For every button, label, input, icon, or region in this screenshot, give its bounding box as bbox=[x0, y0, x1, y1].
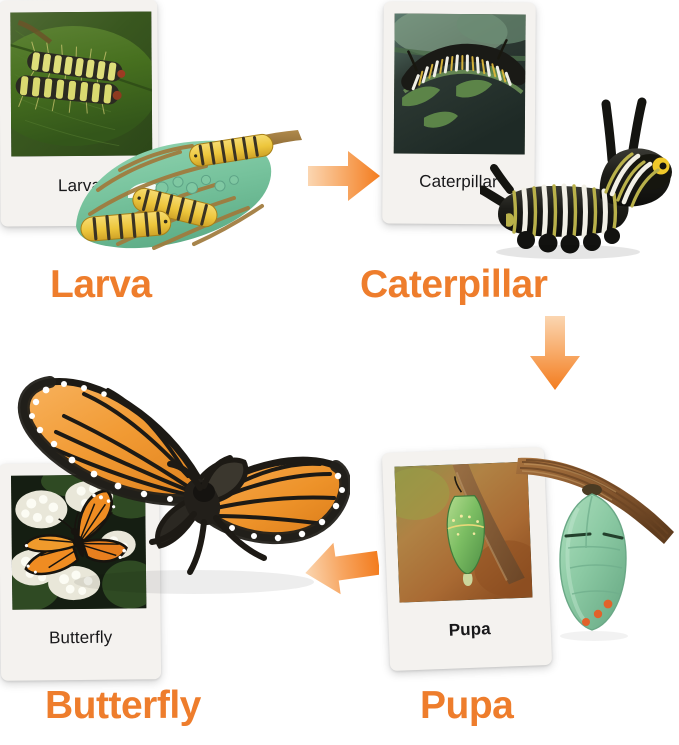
card-butterfly[interactable]: Butterfly bbox=[0, 462, 161, 681]
stage-label-pupa: Pupa bbox=[420, 684, 513, 728]
stage-label-butterfly: Butterfly bbox=[45, 684, 201, 728]
card-pupa[interactable]: Pupa bbox=[382, 447, 552, 671]
card-caterpillar-photo bbox=[394, 14, 526, 155]
arrow-pupa-to-butterfly bbox=[303, 540, 379, 596]
card-larva-photo bbox=[10, 11, 152, 156]
stage-label-larva: Larva bbox=[50, 263, 152, 307]
card-butterfly-caption: Butterfly bbox=[1, 627, 161, 649]
infographic-canvas: Larva bbox=[0, 0, 679, 745]
card-caterpillar[interactable]: Caterpillar bbox=[382, 1, 536, 224]
card-caterpillar-caption: Caterpillar bbox=[382, 171, 534, 192]
card-butterfly-photo bbox=[11, 474, 146, 609]
arrow-caterpillar-to-pupa bbox=[527, 316, 583, 392]
stage-label-caterpillar: Caterpillar bbox=[360, 263, 547, 307]
arrow-larva-to-caterpillar bbox=[308, 148, 382, 204]
card-pupa-photo bbox=[394, 462, 532, 603]
card-larva[interactable]: Larva bbox=[0, 0, 159, 227]
card-larva-caption: Larva bbox=[0, 175, 158, 196]
card-pupa-caption: Pupa bbox=[388, 617, 551, 643]
